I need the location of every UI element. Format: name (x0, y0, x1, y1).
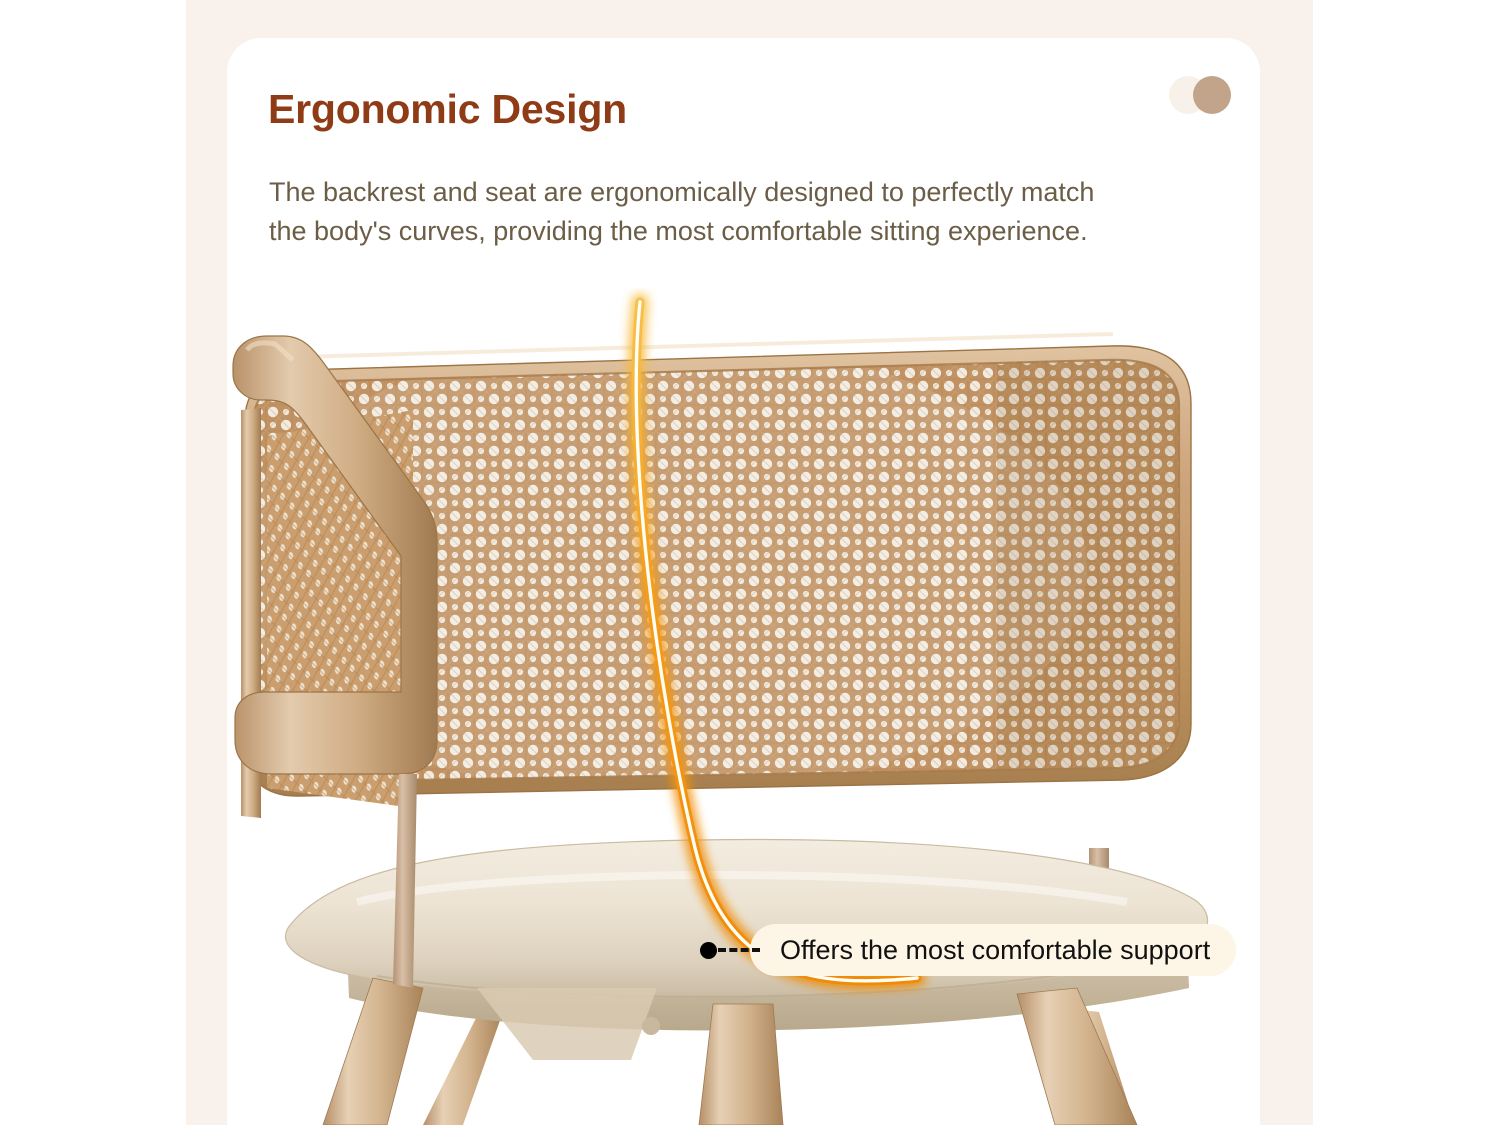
product-image: Offers the most comfortable support (227, 288, 1260, 1125)
chair-leg-front-mid (699, 1004, 783, 1125)
page-title: Ergonomic Design (268, 86, 627, 133)
chair-leg-rear-left (423, 1012, 503, 1125)
armrest-support-post (393, 774, 417, 988)
rattan-chair-illustration (227, 288, 1260, 1125)
product-feature-page: Ergonomic Design The backrest and seat a… (0, 0, 1500, 1125)
chair-leg-front-right (1017, 988, 1137, 1125)
seat-bracket (477, 988, 657, 1060)
content-card: Ergonomic Design The backrest and seat a… (227, 38, 1260, 1125)
swatch-tan-icon[interactable] (1193, 76, 1231, 114)
color-swatches[interactable] (1169, 76, 1235, 116)
page-description: The backrest and seat are ergonomically … (269, 173, 1099, 251)
chair-leg-front-left (323, 978, 423, 1125)
seat-fastener (642, 1017, 660, 1035)
